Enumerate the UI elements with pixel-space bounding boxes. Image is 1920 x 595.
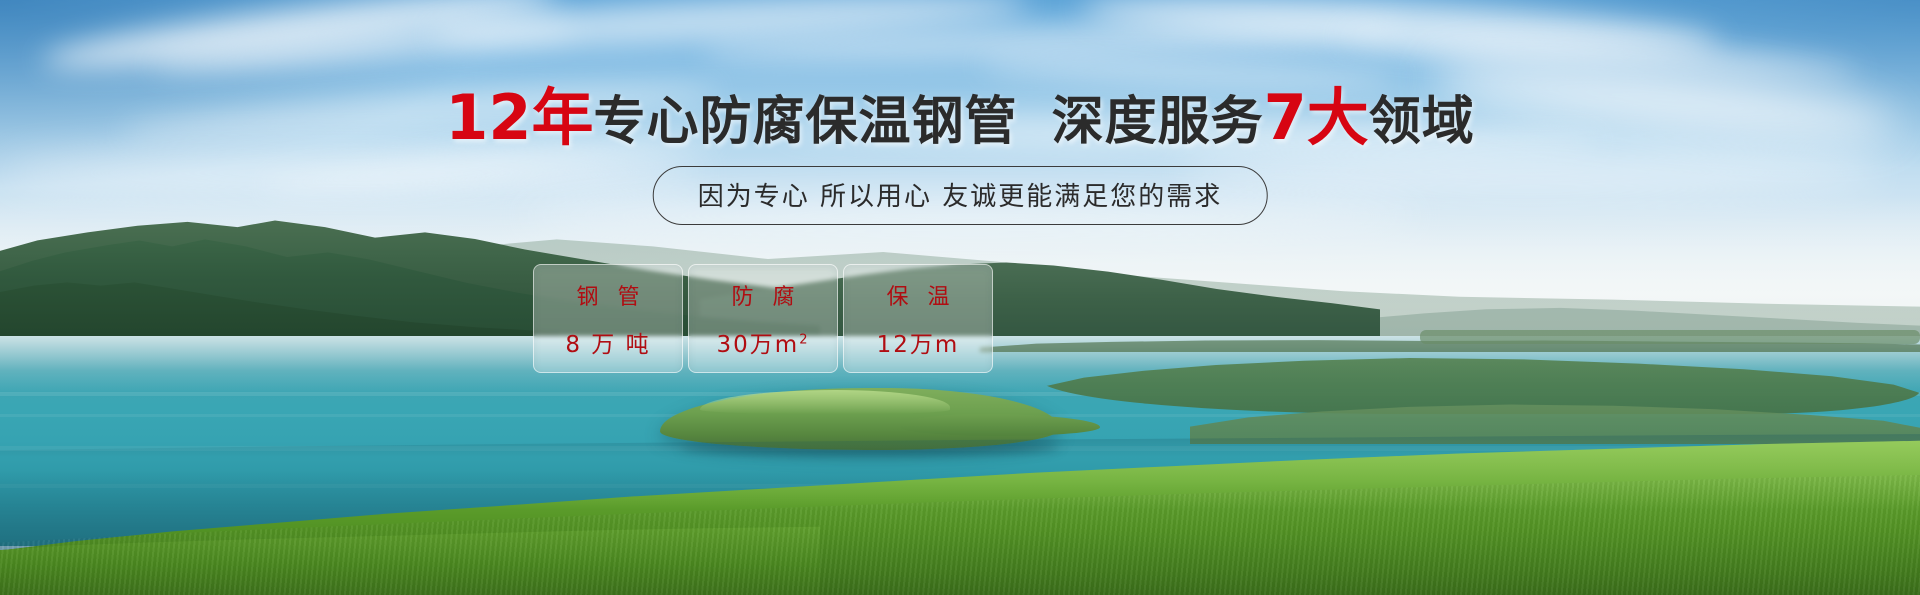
stat-card-title: 保 温 xyxy=(881,279,956,311)
stat-card-value: 30万m2 xyxy=(717,325,810,359)
banner-headline: 12年专心防腐保温钢管深度服务7大领域 xyxy=(0,88,1920,152)
headline-main: 专心防腐保温钢管 xyxy=(594,92,1018,152)
headline-seven: 7大 xyxy=(1264,81,1369,154)
stat-value-text: 30万m xyxy=(717,332,800,358)
stat-card-anticorrosion[interactable]: 防 腐 30万m2 xyxy=(688,264,838,373)
stat-card-insulation[interactable]: 保 温 12万m xyxy=(843,264,993,373)
stat-card-value: 8 万 吨 xyxy=(565,325,650,359)
hero-banner: 12年专心防腐保温钢管深度服务7大领域 因为专心 所以用心 友诚更能满足您的需求… xyxy=(0,0,1920,595)
banner-subtitle-pill: 因为专心 所以用心 友诚更能满足您的需求 xyxy=(653,166,1268,225)
stat-card-steel-pipe[interactable]: 钢 管 8 万 吨 xyxy=(533,264,683,373)
stat-value-text: 12万m xyxy=(877,332,960,358)
stat-value-sup: 2 xyxy=(799,332,809,347)
stat-card-title: 防 腐 xyxy=(726,279,801,311)
marsh-strip xyxy=(1420,330,1920,344)
headline-fields: 领域 xyxy=(1369,92,1475,152)
stat-card-title: 钢 管 xyxy=(571,279,646,311)
stat-card-value: 12万m xyxy=(877,325,960,359)
cloud-decoration xyxy=(1180,150,1880,194)
stat-card-group: 钢 管 8 万 吨 防 腐 30万m2 保 温 12万m xyxy=(533,264,993,373)
stat-value-text: 8 万 吨 xyxy=(565,332,650,358)
headline-service: 深度服务 xyxy=(1052,92,1264,152)
headline-years: 12年 xyxy=(445,81,593,154)
